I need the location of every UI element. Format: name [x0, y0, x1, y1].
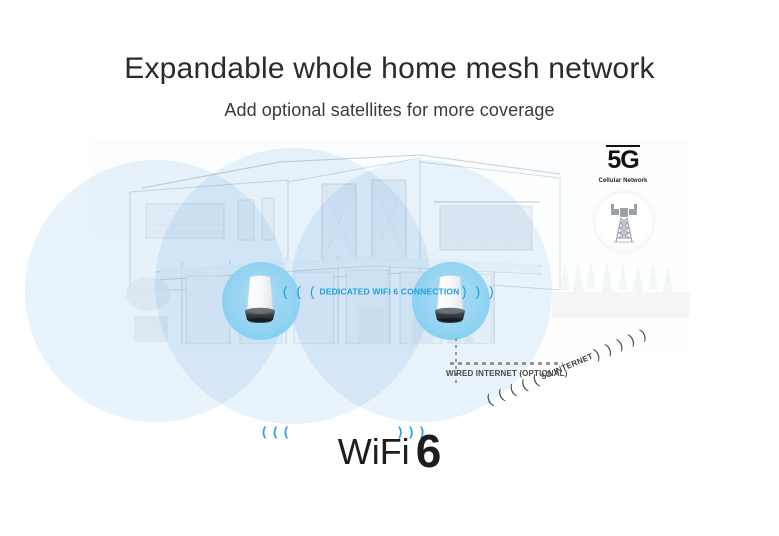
wired-connector-horizontal [448, 362, 563, 365]
mesh-router-device-right [433, 273, 467, 325]
signal-arcs-right: ) ) ) [462, 283, 496, 299]
dedicated-connection-label: ( ( ( DEDICATED WIFI 6 CONNECTION ) ) ) [0, 283, 779, 299]
fiveg-logo: 5G [578, 145, 668, 173]
signal-arcs-left: ( ( ( [283, 283, 317, 299]
wifi6-number: 6 [416, 425, 442, 477]
wifi6-wordmark: WiFi6 [0, 428, 779, 474]
wired-internet-label: WIRED INTERNET (OPTIONAL) [446, 369, 568, 378]
mesh-network-diagram: ( ( ( DEDICATED WIFI 6 CONNECTION ) ) ) … [0, 140, 779, 440]
page-title: Expandable whole home mesh network [0, 52, 779, 85]
cellular-tower-group: 5G Cellular Network [578, 145, 668, 260]
dedicated-connection-text: DEDICATED WIFI 6 CONNECTION [320, 287, 460, 297]
cellular-network-caption: Cellular Network [578, 178, 668, 184]
mesh-router-device-left [243, 273, 277, 325]
fiveg-logo-text: 5G [607, 146, 638, 174]
page-subtitle: Add optional satellites for more coverag… [0, 100, 779, 122]
cell-tower-icon [595, 193, 653, 251]
wifi6-text: WiFi [338, 431, 410, 472]
